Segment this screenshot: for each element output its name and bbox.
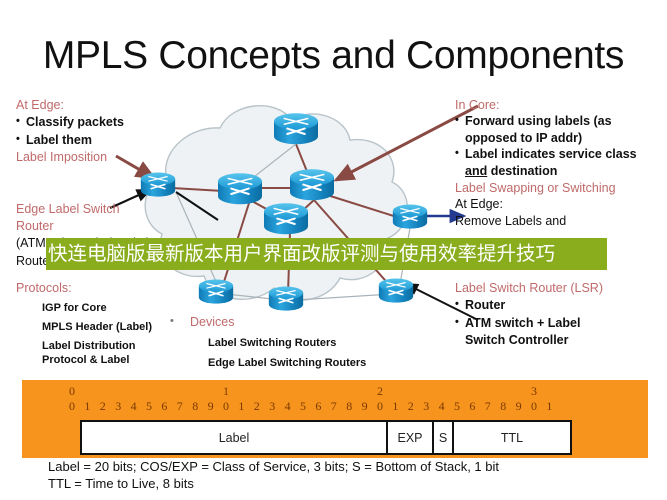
router-icon-core-south	[264, 203, 308, 234]
router-icon-edge-s	[269, 287, 303, 311]
bit-tick-5: 5	[141, 399, 157, 414]
page-title: MPLS Concepts and Components	[0, 34, 667, 78]
router-icon-edge-sw	[199, 280, 233, 304]
core-bullet-1-line-1: Forward using labels (as	[455, 114, 665, 130]
bit-tick-27: 7	[480, 399, 496, 414]
label-imposition-label: Label Imposition	[16, 150, 166, 165]
device-item-2: Edge Label Switching Routers	[208, 357, 398, 370]
bitfield-legend: Label = 20 bits; COS/EXP = Class of Serv…	[48, 459, 648, 492]
bit-tick-25: 5	[449, 399, 465, 414]
left-bullet-1: Classify packets	[16, 115, 166, 131]
bit-tick-31: 1	[541, 399, 557, 414]
in-core-header: In Core:	[455, 98, 665, 113]
core-at-edge-label: At Edge:	[455, 197, 665, 213]
field-s: S	[434, 422, 454, 453]
core-bullet-1-line-2: opposed to IP addr)	[455, 131, 665, 147]
slide-root: MPLS Concepts and Components	[0, 0, 667, 500]
edge-router-line-2: Router	[16, 219, 166, 234]
devices-header: Devices	[178, 315, 398, 330]
device-item-1: Label Switching Routers	[208, 337, 398, 350]
router-icon-core-north	[274, 113, 318, 144]
bit-tick-22: 2	[403, 399, 419, 414]
mpls-header-fields: Label EXP S TTL	[80, 420, 572, 455]
protocols-header: Protocols:	[16, 281, 176, 296]
protocol-item-1: IGP for Core	[42, 302, 176, 315]
protocol-item-3: Label Distribution	[42, 340, 176, 353]
lsr-bullet-2-line-1: ATM switch + Label	[455, 316, 660, 332]
destination-text: destination	[487, 164, 557, 178]
bit-ruler: 012301234567890123456789012345678901	[64, 384, 624, 416]
bit-decade-2: 2	[372, 384, 388, 399]
bit-tick-11: 1	[233, 399, 249, 414]
field-ttl: TTL	[454, 422, 570, 453]
devices-block: Devices Label Switching Routers Edge Lab…	[178, 315, 398, 370]
at-edge-header: At Edge:	[16, 98, 166, 113]
bit-tick-4: 4	[126, 399, 142, 414]
core-bullet-2-line-2: and destination	[455, 164, 665, 180]
bit-tick-29: 9	[511, 399, 527, 414]
bit-tick-6: 6	[156, 399, 172, 414]
bit-tick-24: 4	[434, 399, 450, 414]
protocol-item-4: Protocol & Label	[42, 354, 176, 367]
bit-tick-18: 8	[341, 399, 357, 414]
label-swapping-label: Label Swapping or Switching	[455, 181, 665, 196]
bit-tick-7: 7	[172, 399, 188, 414]
core-bullet-2-line-1: Label indicates service class	[455, 147, 665, 163]
bit-tick-10: 0	[218, 399, 234, 414]
legend-line-2: TTL = Time to Live, 8 bits	[48, 476, 648, 493]
bit-tick-30: 0	[526, 399, 542, 414]
remove-labels-label: Remove Labels and	[455, 214, 665, 230]
lsr-header: Label Switch Router (LSR)	[455, 281, 660, 296]
bit-tick-15: 5	[295, 399, 311, 414]
bit-tick-14: 4	[280, 399, 296, 414]
bit-tick-21: 1	[387, 399, 403, 414]
protocol-item-2: MPLS Header (Label)	[42, 321, 176, 334]
right-text-column: In Core: Forward using labels (as oppose…	[455, 98, 665, 230]
bit-tick-8: 8	[187, 399, 203, 414]
bit-tick-1: 1	[79, 399, 95, 414]
bit-decade-0: 0	[64, 384, 80, 399]
bit-tick-12: 2	[249, 399, 265, 414]
router-icon-core-east	[290, 169, 334, 200]
router-icon-core-west	[218, 173, 262, 204]
promo-banner-text: 快连电脑版最新版本用户界面改版评测与使用效率提升技巧	[46, 243, 555, 265]
bit-tick-26: 6	[464, 399, 480, 414]
bit-tick-9: 9	[203, 399, 219, 414]
bit-decade-1: 1	[218, 384, 234, 399]
bit-tick-17: 7	[326, 399, 342, 414]
bit-tick-3: 3	[110, 399, 126, 414]
bit-tick-28: 8	[495, 399, 511, 414]
legend-line-1: Label = 20 bits; COS/EXP = Class of Serv…	[48, 459, 648, 476]
lsr-bullet-1: Router	[455, 298, 660, 314]
bit-tick-23: 3	[418, 399, 434, 414]
bit-tick-0: 0	[64, 399, 80, 414]
bit-tick-13: 3	[264, 399, 280, 414]
lsr-bullet-2-line-2: Switch Controller	[455, 333, 660, 349]
bit-tick-19: 9	[357, 399, 373, 414]
bit-tick-2: 2	[95, 399, 111, 414]
field-label: Label	[82, 422, 388, 453]
and-underlined: and	[465, 164, 487, 178]
lsr-block: Label Switch Router (LSR) Router ATM swi…	[455, 281, 660, 351]
router-icon-edge-ne	[393, 205, 427, 229]
bit-decade-3: 3	[526, 384, 542, 399]
bit-tick-20: 0	[372, 399, 388, 414]
field-exp: EXP	[388, 422, 434, 453]
left-bullet-2: Label them	[16, 133, 166, 149]
router-icon-edge-se	[379, 279, 413, 303]
edge-router-line-1: Edge Label Switch	[16, 202, 166, 217]
promo-banner: 快连电脑版最新版本用户界面改版评测与使用效率提升技巧	[46, 238, 607, 270]
bit-tick-16: 6	[310, 399, 326, 414]
protocols-block: Protocols: IGP for Core MPLS Header (Lab…	[16, 281, 176, 367]
